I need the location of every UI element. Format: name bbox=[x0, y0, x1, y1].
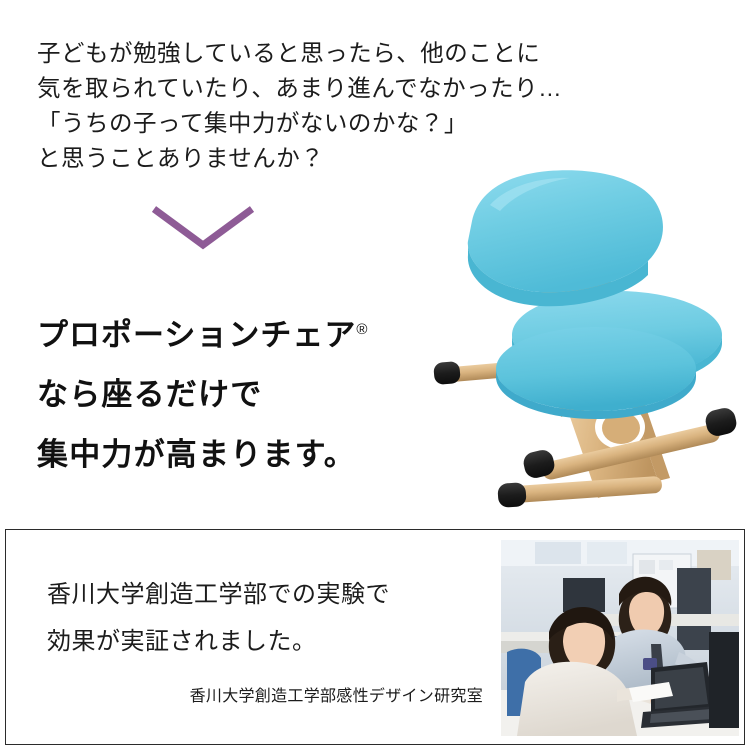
evidence-credit: 香川大学創造工学部感性デザイン研究室 bbox=[47, 682, 483, 706]
headline-brand-line: プロポーションチェア® bbox=[37, 300, 467, 365]
chevron-down-icon bbox=[148, 203, 258, 251]
advertisement-root: 子どもが勉強していると思ったら、他のことに 気を取られていたり、あまり進んでなか… bbox=[0, 0, 750, 750]
evidence-line-1: 香川大学創造工学部での実験で bbox=[47, 571, 467, 618]
chair-base-foot bbox=[497, 476, 662, 508]
chair-knee-cushion-lower bbox=[496, 327, 696, 419]
evidence-statement: 香川大学創造工学部での実験で 効果が実証されました。 bbox=[47, 571, 467, 665]
registered-trademark-icon: ® bbox=[356, 321, 367, 338]
intro-line-4: と思うことありませんか？ bbox=[37, 141, 637, 176]
intro-paragraph: 子どもが勉強していると思ったら、他のことに 気を取られていたり、あまり進んでなか… bbox=[37, 36, 637, 176]
headline-line-3: 集中力が高まります。 bbox=[37, 425, 467, 485]
brand-name: プロポーションチェア bbox=[37, 317, 356, 352]
headline: プロポーションチェア® なら座るだけで 集中力が高まります。 bbox=[37, 300, 467, 485]
evidence-line-2: 効果が実証されました。 bbox=[47, 618, 467, 665]
lab-experiment-photo bbox=[501, 540, 739, 736]
evidence-panel: 香川大学創造工学部での実験で 効果が実証されました。 香川大学創造工学部感性デザ… bbox=[5, 529, 745, 745]
headline-line-2: なら座るだけで bbox=[37, 365, 467, 425]
intro-line-3: 「うちの子って集中力がないのかな？」 bbox=[37, 106, 637, 141]
intro-line-1: 子どもが勉強していると思ったら、他のことに bbox=[37, 36, 637, 71]
product-image-kneeling-chair bbox=[420, 165, 750, 515]
chair-seat-cushion bbox=[468, 170, 663, 306]
intro-line-2: 気を取られていたり、あまり進んでなかったり… bbox=[37, 71, 637, 106]
